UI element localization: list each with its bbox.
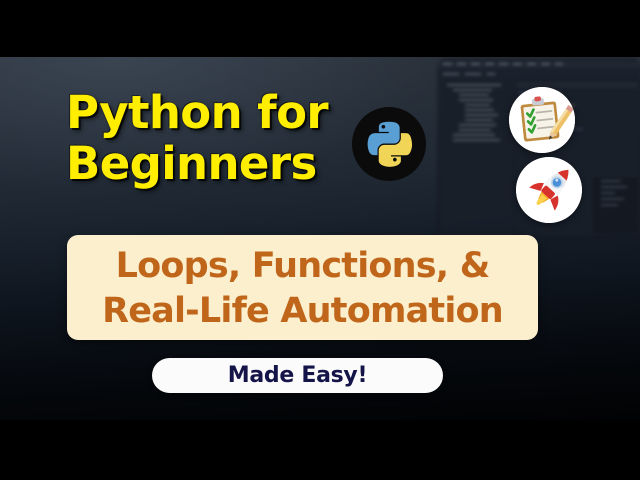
tree-row — [465, 109, 494, 111]
tree-row — [447, 84, 501, 86]
tree-row — [453, 89, 492, 91]
tree-row — [465, 104, 490, 106]
subtitle-banner: Loops, Functions, & Real-Life Automation — [67, 235, 538, 340]
video-thumbnail: Python for Beginners Loops, Functions, &… — [0, 0, 640, 480]
terminal-line — [601, 198, 624, 200]
editor-menubar — [437, 61, 640, 68]
clipboard-checklist-icon — [509, 87, 575, 153]
rocket-icon — [516, 157, 582, 223]
tree-row — [459, 99, 493, 101]
tree-row — [453, 134, 495, 136]
tree-row — [453, 139, 500, 141]
tree-row — [459, 94, 489, 96]
terminal-line — [601, 192, 615, 194]
file-tree-items — [447, 84, 510, 144]
tree-row — [459, 129, 491, 131]
terminal-line — [601, 204, 618, 206]
editor-file-tree — [441, 80, 513, 236]
subtitle-line-2: Real-Life Automation — [102, 289, 503, 334]
editor-tabbar — [437, 70, 640, 78]
thumbnail-stage: Python for Beginners Loops, Functions, &… — [0, 57, 640, 420]
terminal-line — [601, 186, 627, 188]
headline-line-1: Python for — [66, 87, 366, 138]
tree-row — [465, 119, 493, 121]
letterbox-bar-bottom — [0, 420, 640, 480]
tree-row — [465, 114, 498, 116]
letterbox-bar-top — [0, 0, 640, 57]
editor-terminal-pane — [593, 175, 638, 234]
headline-line-2: Beginners — [66, 138, 366, 189]
terminal-line — [601, 180, 621, 182]
status-badge: Made Easy! — [152, 358, 443, 393]
tree-row — [459, 124, 496, 126]
page-title: Python for Beginners — [66, 87, 366, 189]
badge-label: Made Easy! — [228, 363, 367, 388]
subtitle-line-1: Loops, Functions, & — [116, 244, 490, 289]
